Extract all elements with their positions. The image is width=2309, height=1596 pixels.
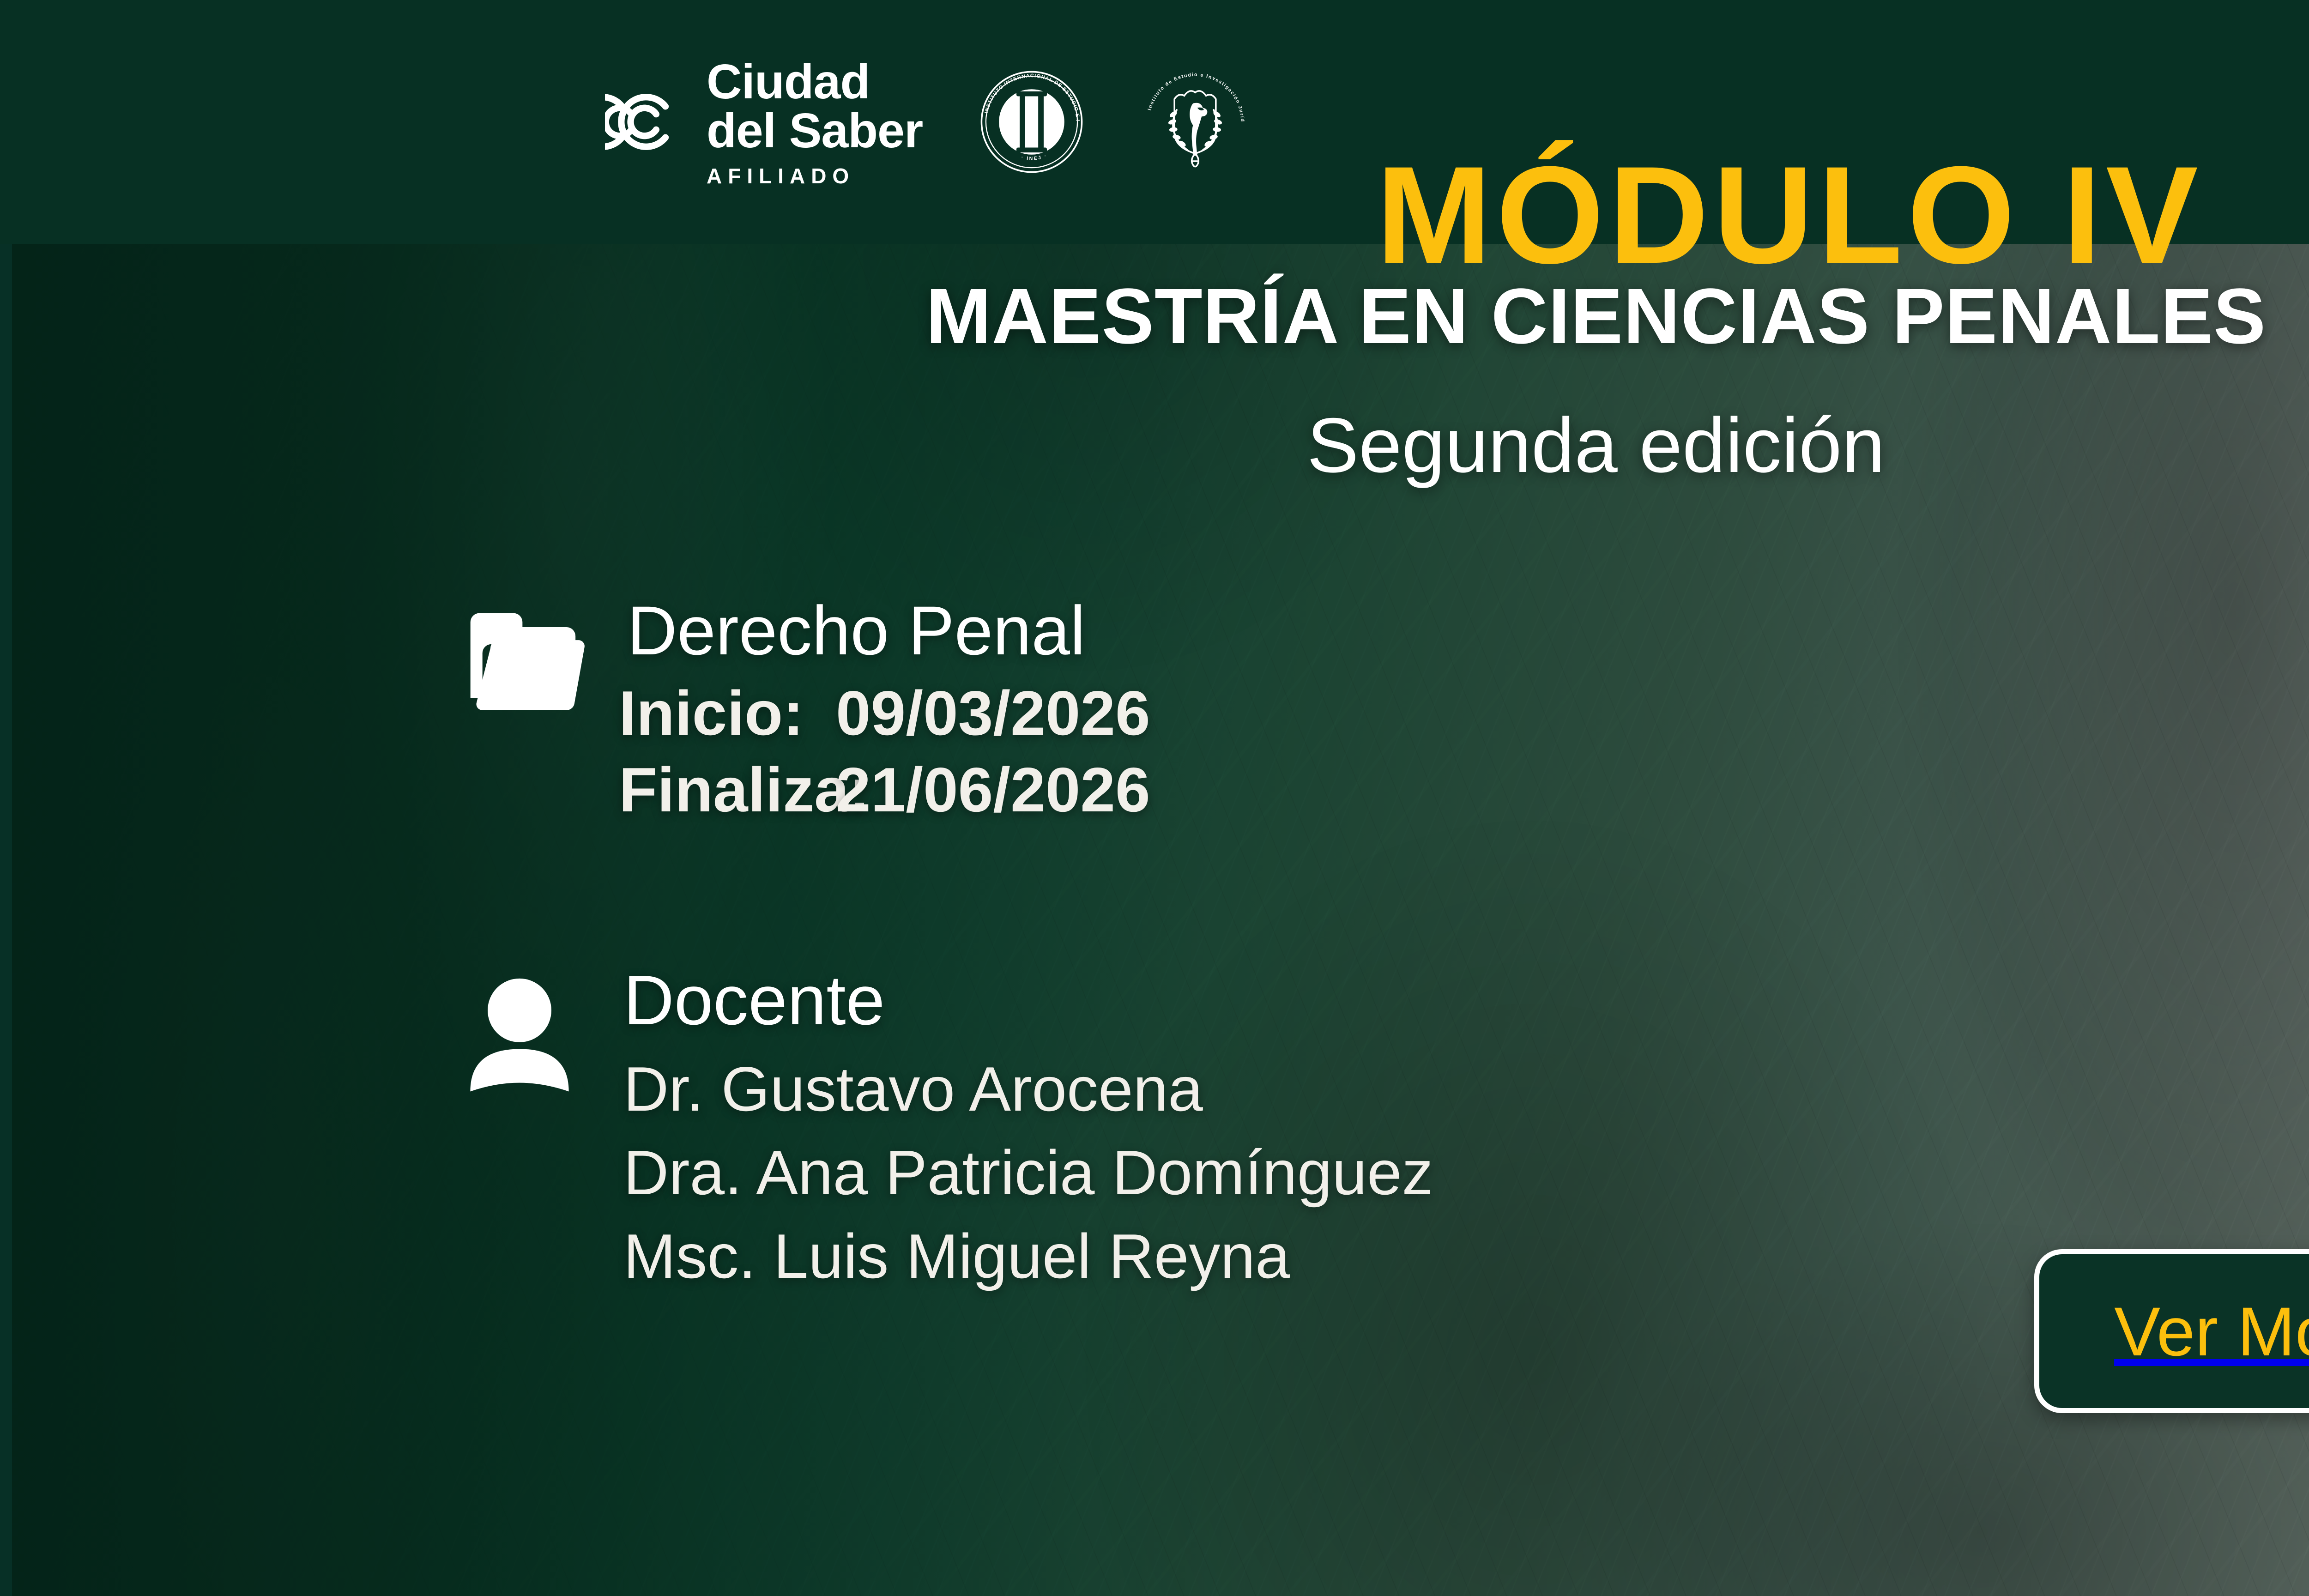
promo-banner: Ciudad del Saber AFILIADO [0,0,2309,1596]
person-icon-wrapper [466,965,619,1096]
view-module-button[interactable]: Ver Módulo [2034,1249,2309,1413]
page-title: MAESTRÍA EN CIENCIAS PENALES [0,277,2309,356]
view-module-button-label: Ver Módulo [2114,1297,2309,1366]
course-name: Derecho Penal [619,596,2037,665]
logo-line-2: del Saber [707,106,923,155]
course-start-label: Inicio: [619,675,836,752]
module-title: MÓDULO IV [1376,145,2203,284]
circular-seal-icon: INSTITUTO INTERNACIONAL DE ESTUDIO E INV… [977,67,1086,176]
teachers-block: Docente Dr. Gustavo Arocena Dra. Ana Pat… [466,965,2129,1298]
teacher-name: Dra. Ana Patricia Domínguez [619,1131,2129,1215]
course-end-value: 21/06/2026 [836,752,1150,828]
logo-ciudad-del-saber: Ciudad del Saber AFILIADO [605,57,923,187]
header-band: Ciudad del Saber AFILIADO [0,0,2309,244]
folder-icon-wrapper [466,596,619,713]
teacher-name: Dr. Gustavo Arocena [619,1047,2129,1131]
course-end-label: Finaliza: [619,752,836,828]
person-icon [466,1088,573,1095]
folder-icon [466,704,586,712]
swirl-spiral-icon [605,83,683,161]
teacher-name: Msc. Luis Miguel Reyna [619,1215,2129,1298]
logo-affiliate-label: AFILIADO [707,165,923,187]
teachers-heading: Docente [619,965,2129,1035]
logo-line-1: Ciudad [707,57,923,106]
eagle-laurel-seal-icon: Instituto de Estudio e Investigación Jur… [1141,67,1250,176]
logo-group: Ciudad del Saber AFILIADO [605,57,1250,187]
course-start-value: 09/03/2026 [836,675,1150,752]
ciudad-del-saber-wordmark: Ciudad del Saber AFILIADO [707,57,923,187]
course-info-block: Derecho Penal Inicio: 09/03/2026 Finaliz… [466,596,2037,828]
course-start-row: Inicio: 09/03/2026 [619,675,2037,752]
course-end-row: Finaliza: 21/06/2026 [619,752,2037,828]
page-subtitle: Segunda edición [0,406,2309,484]
